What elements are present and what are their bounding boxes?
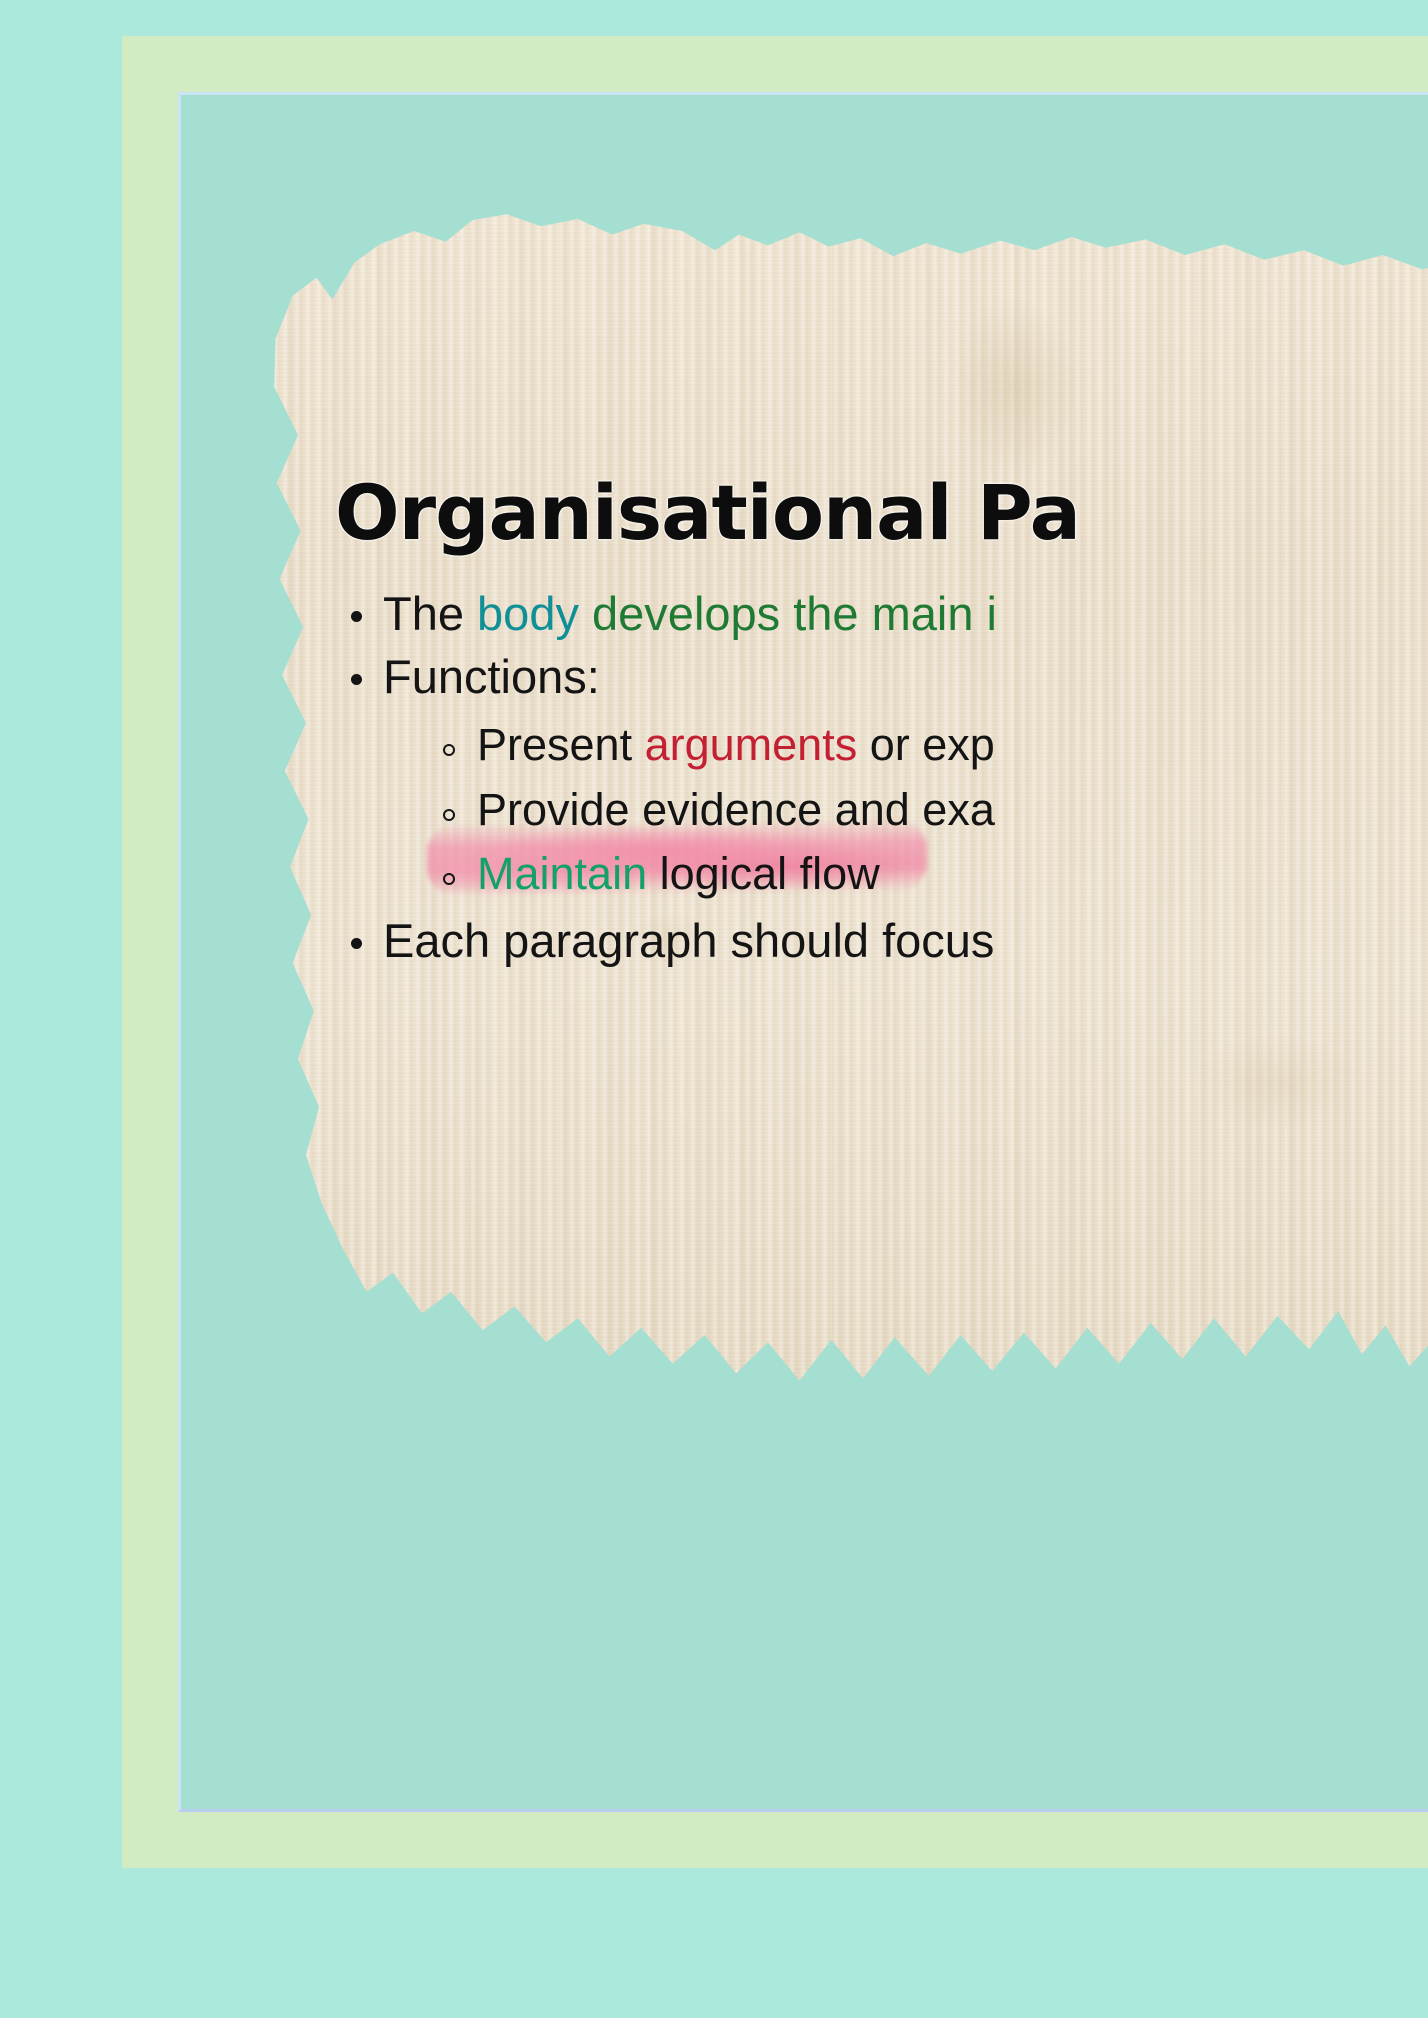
text-segment: body <box>477 587 579 640</box>
bullet-list-level-2: Present arguments or expProvide evidence… <box>335 718 1428 903</box>
list-item-label: Functions: <box>383 650 600 703</box>
text-segment: Each paragraph should focus <box>383 914 994 967</box>
list-item-label: Maintain logical flow <box>477 848 880 899</box>
text-segment: logical flow <box>647 848 880 899</box>
slide-canvas: Organisational Pa The body develops the … <box>0 0 1428 2018</box>
list-item: Provide evidence and exa <box>335 783 1428 838</box>
list-item: Present arguments or exp <box>335 718 1428 773</box>
text-segment: Maintain <box>477 848 647 899</box>
list-item-label: Provide evidence and exa <box>477 784 995 835</box>
list-item-label: Present arguments or exp <box>477 719 995 770</box>
text-segment: Functions: <box>383 650 600 703</box>
hollow-ring-bullet-icon <box>443 744 455 756</box>
list-item: Functions: <box>335 648 1428 705</box>
text-segment: The <box>383 587 477 640</box>
list-item: Each paragraph should focus <box>335 912 1428 969</box>
hollow-ring-bullet-icon <box>443 873 455 885</box>
slide-content: Organisational Pa The body develops the … <box>335 475 1428 976</box>
page-title: Organisational Pa <box>335 475 1428 551</box>
text-segment: Present <box>477 719 645 770</box>
text-segment: or exp <box>857 719 995 770</box>
filled-dot-bullet-icon <box>351 938 362 949</box>
filled-dot-bullet-icon <box>351 674 362 685</box>
text-segment: develops the main i <box>579 587 997 640</box>
text-segment: Provide evidence and exa <box>477 784 995 835</box>
list-item-label: The body develops the main i <box>383 587 997 640</box>
bullet-list-level-1: The body develops the main iFunctions:Pr… <box>335 585 1428 970</box>
torn-paper-sheet: Organisational Pa The body develops the … <box>195 195 1428 1395</box>
text-segment: arguments <box>645 719 858 770</box>
list-item: The body develops the main i <box>335 585 1428 642</box>
hollow-ring-bullet-icon <box>443 809 455 821</box>
filled-dot-bullet-icon <box>351 611 362 622</box>
list-item: Maintain logical flow <box>335 847 1428 902</box>
list-item-label: Each paragraph should focus <box>383 914 994 967</box>
